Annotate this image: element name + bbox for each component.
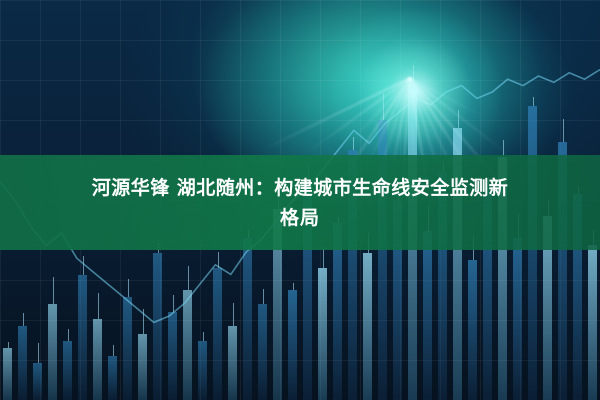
banner-line-1: 河源华锋 湖北随州：构建城市生命线安全监测新: [92, 173, 509, 203]
thumbnail-canvas: 河源华锋 湖北随州：构建城市生命线安全监测新 格局: [0, 0, 600, 400]
banner-line-2: 格局: [280, 203, 320, 233]
title-banner: 河源华锋 湖北随州：构建城市生命线安全监测新 格局: [0, 155, 600, 250]
